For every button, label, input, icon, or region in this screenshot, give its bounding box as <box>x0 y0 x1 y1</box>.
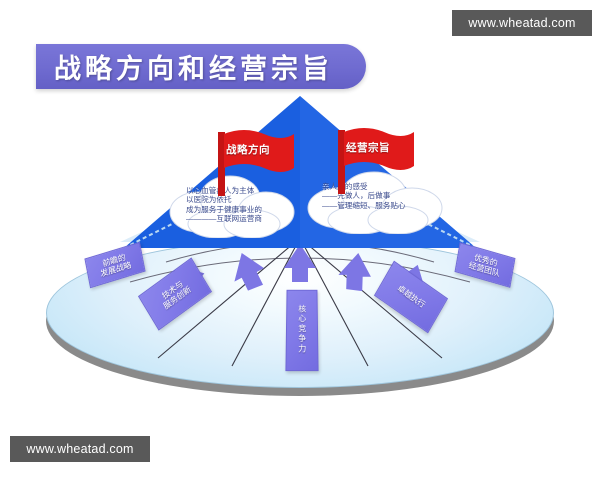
watermark-bottom: www.wheatad.com <box>10 436 150 462</box>
page-title: 战略方向和经营宗旨 <box>36 47 333 86</box>
panel-3-line-1: 卓越执行 <box>396 284 427 311</box>
page-title-bar: 战略方向和经营宗旨 <box>36 44 366 89</box>
watermark-top: www.wheatad.com <box>452 10 592 36</box>
panel-core-competitiveness[interactable]: 核心竞争力 <box>285 290 318 371</box>
strategy-flag-icon <box>214 128 298 198</box>
panel-2-line-1: 核心竞争力 <box>297 305 307 355</box>
slide-canvas: www.wheatad.com <box>0 0 600 480</box>
mission-flag-icon <box>334 126 418 196</box>
